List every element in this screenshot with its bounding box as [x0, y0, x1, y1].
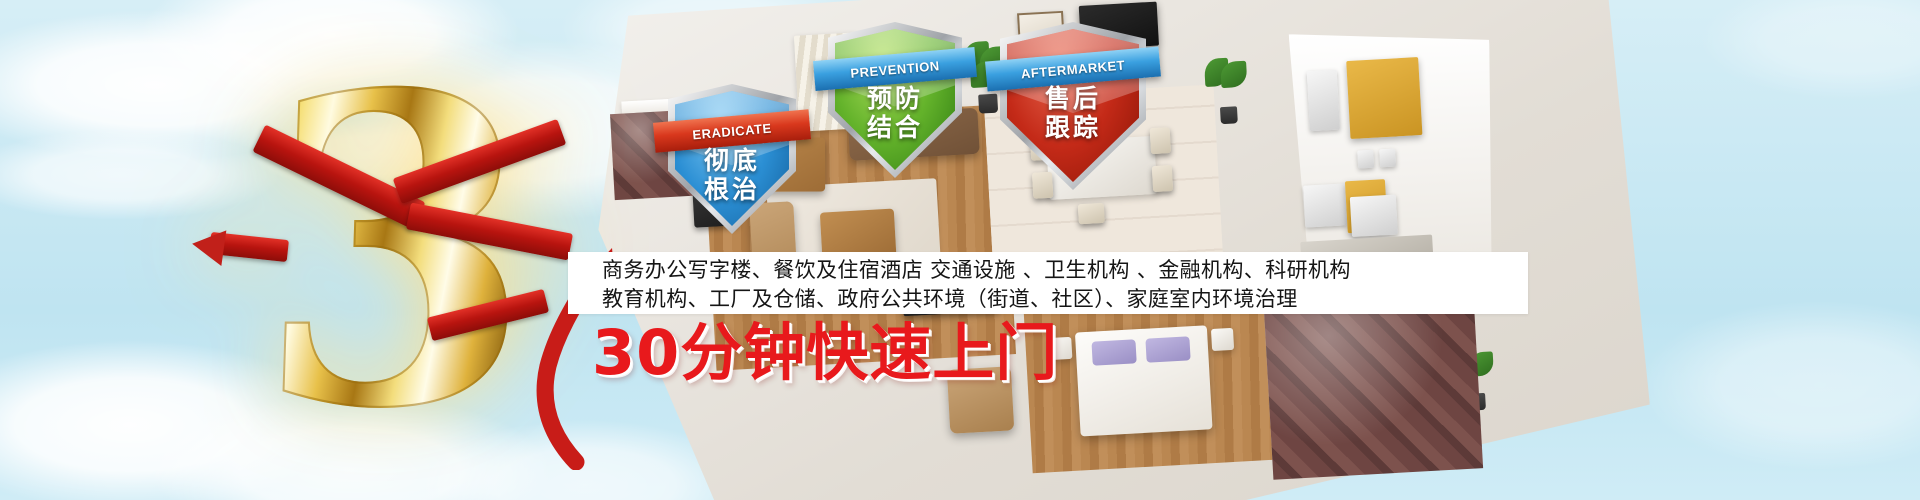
promo-banner: 3 ERADICATE 彻底 根治 PREVENTION 预防 — [0, 0, 1920, 500]
dining-chair — [1150, 127, 1171, 154]
pillow — [1091, 339, 1136, 365]
shield-cn-line1: 预防 — [828, 84, 962, 113]
hall-marble-floor — [1264, 292, 1483, 479]
shield-cn-line2: 根治 — [668, 175, 796, 204]
shield-cn-line2: 跟踪 — [1000, 113, 1146, 142]
service-scope-line-1: 商务办公写字楼、餐饮及住宿酒店 交通设施 、卫生机构 、金融机构、科研机构 — [602, 256, 1528, 285]
service-scope-line-2: 教育机构、工厂及仓储、政府公共环境（街道、社区）、家庭室内环境治理 — [602, 285, 1528, 314]
oven — [1303, 183, 1347, 227]
sink — [1350, 195, 1398, 238]
kitchen-utensil — [1357, 150, 1374, 169]
range-hood — [1307, 70, 1340, 132]
shield-cn-text: 彻底 根治 — [668, 146, 796, 204]
dining-chair — [1152, 165, 1173, 192]
service-scope-panel: 商务办公写字楼、餐饮及住宿酒店 交通设施 、卫生机构 、金融机构、科研机构 教育… — [568, 252, 1528, 314]
shield-cn-line1: 售后 — [1000, 84, 1146, 113]
shield-cn-text: 预防 结合 — [828, 84, 962, 142]
headline-text: 30分钟快速上门 — [592, 320, 1058, 386]
potted-plant — [1202, 56, 1254, 125]
dining-chair — [1078, 203, 1105, 224]
cloud-decoration — [1640, 300, 1920, 470]
shield-aftermarket: AFTERMARKET 售后 跟踪 — [1000, 22, 1146, 190]
shield-sash-label: ERADICATE — [692, 120, 772, 142]
shield-eradicate: ERADICATE 彻底 根治 — [668, 84, 796, 234]
nightstand — [1211, 328, 1234, 351]
ribbon-tail-icon — [190, 226, 227, 266]
cloud-decoration — [1700, 0, 1920, 100]
shield-cn-text: 售后 跟踪 — [1000, 84, 1146, 142]
shield-cn-line1: 彻底 — [668, 146, 796, 175]
kitchen-upper-cabinet — [1346, 57, 1422, 139]
pillow — [1145, 336, 1190, 362]
shield-prevention: PREVENTION 预防 结合 — [828, 22, 962, 178]
shield-cn-line2: 结合 — [828, 113, 962, 142]
shield-sash-label: PREVENTION — [850, 58, 940, 81]
shield-sash-label: AFTERMARKET — [1020, 57, 1125, 81]
kitchen-utensil — [1379, 148, 1396, 167]
